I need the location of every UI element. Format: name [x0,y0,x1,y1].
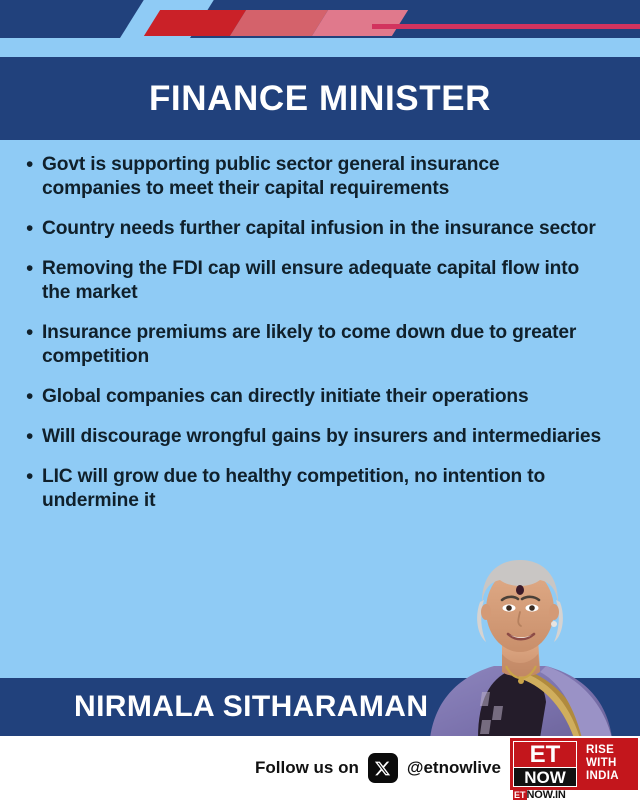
tagline-line-2: WITH [586,757,638,770]
list-item-text: Will discourage wrongful gains by insure… [42,425,601,449]
stripe-pink-light [312,10,408,36]
list-item-text: Country needs further capital infusion i… [42,217,596,241]
tagline-line-3: INDIA [586,770,638,783]
list-item: • Insurance premiums are likely to come … [26,321,622,369]
bullet-marker-icon: • [26,321,42,345]
list-item: • Removing the FDI cap will ensure adequ… [26,257,622,305]
bullet-marker-icon: • [26,465,42,489]
et-wordmark: ET [513,741,577,767]
list-item: • Country needs further capital infusion… [26,217,622,241]
etnow-logo-mark: ET NOW [510,738,580,790]
list-item-text: Global companies can directly initiate t… [42,385,528,409]
bullet-marker-icon: • [26,153,42,177]
list-item-text: Insurance premiums are likely to come do… [42,321,602,369]
bullet-marker-icon: • [26,425,42,449]
x-twitter-icon[interactable] [368,753,398,783]
social-handle[interactable]: @etnowlive [407,758,501,778]
url-suffix: NOW.IN [527,790,566,800]
follow-label: Follow us on [255,758,359,778]
footer-bar: Follow us on @etnowlive ET NOW RISE WITH… [0,736,640,800]
list-item: • Will discourage wrongful gains by insu… [26,425,622,449]
infographic-card: FINANCE MINISTER • Govt is supporting pu… [0,0,640,800]
list-item: • Global companies can directly initiate… [26,385,622,409]
bullet-marker-icon: • [26,257,42,281]
list-item: • LIC will grow due to healthy competiti… [26,465,622,513]
bullet-marker-icon: • [26,385,42,409]
url-prefix: ET [513,790,527,800]
bullet-marker-icon: • [26,217,42,241]
name-banner: NIRMALA SITHARAMAN [0,678,640,736]
list-item: • Govt is supporting public sector gener… [26,153,622,201]
etnow-url-strip[interactable]: ET NOW.IN [510,790,638,800]
page-title: FINANCE MINISTER [149,79,491,119]
list-item-text: LIC will grow due to healthy competition… [42,465,602,513]
person-name: NIRMALA SITHARAMAN [74,690,428,724]
list-item-text: Removing the FDI cap will ensure adequat… [42,257,602,305]
bullet-list: • Govt is supporting public sector gener… [0,141,640,678]
now-wordmark: NOW [513,767,577,787]
list-item-text: Govt is supporting public sector general… [42,153,602,201]
etnow-logo[interactable]: ET NOW RISE WITH INDIA ET NOW.IN [510,738,638,798]
tagline-line-1: RISE [586,744,638,757]
title-bar: FINANCE MINISTER [0,57,640,140]
etnow-tagline: RISE WITH INDIA [580,738,638,790]
social-follow-group: Follow us on @etnowlive [255,753,501,783]
accent-rule [372,24,640,29]
etnow-logo-main: ET NOW RISE WITH INDIA [510,738,638,790]
